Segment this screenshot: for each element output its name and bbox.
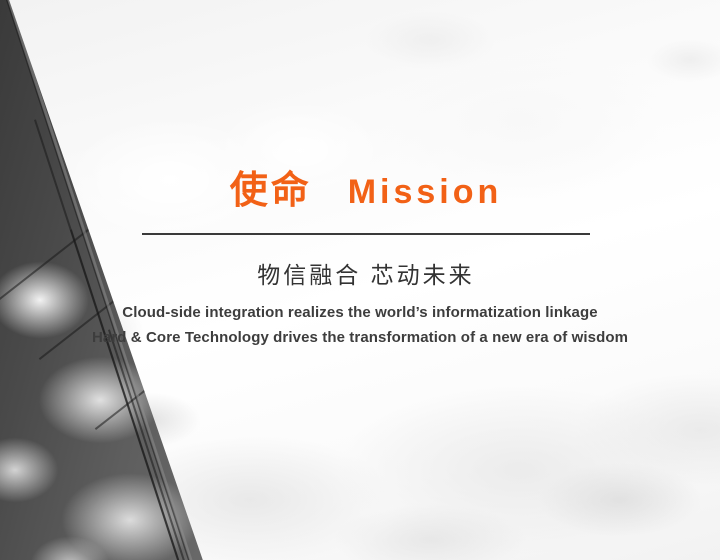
heading-chinese: 使命 bbox=[230, 172, 312, 210]
subtitle-chinese: 物信融合 芯动未来 bbox=[142, 256, 590, 290]
banner-content: 使命 Mission 物信融合 芯动未来 Cloud-side integrat… bbox=[0, 0, 720, 560]
heading-english: Mission bbox=[348, 175, 503, 209]
banner-heading: 使命 Mission bbox=[142, 172, 590, 210]
description-line-1: Cloud-side integration realizes the worl… bbox=[60, 300, 660, 325]
description-block: Cloud-side integration realizes the worl… bbox=[60, 300, 660, 350]
mission-banner: 使命 Mission 物信融合 芯动未来 Cloud-side integrat… bbox=[0, 0, 720, 560]
heading-divider-rule bbox=[142, 233, 590, 235]
description-line-2: Hard & Core Technology drives the transf… bbox=[60, 325, 660, 350]
